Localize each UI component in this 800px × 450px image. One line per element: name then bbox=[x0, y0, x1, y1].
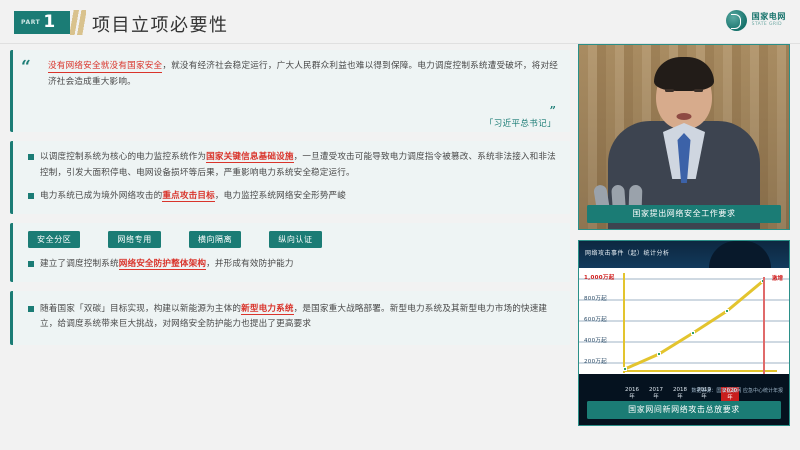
quote-attribution: 「习近平总书记」 bbox=[485, 117, 556, 129]
slide-root: PART 1 项目立项必要性 国家电网 STATE GRID “ 没有网络安全就… bbox=[0, 0, 800, 450]
chart-point-2016 bbox=[623, 367, 627, 371]
tv-header-bar: 网络攻击事件（起）统计分析 bbox=[579, 241, 789, 268]
bullet-0-highlight: 国家关键信息基础设施 bbox=[206, 152, 293, 163]
media-bottom-caption: 国家网间新网络攻击总放要求 bbox=[587, 401, 781, 420]
chart-ytick-400: 400万起 bbox=[584, 336, 607, 344]
quote-open-icon: “ bbox=[21, 59, 31, 76]
page-title: 项目立项必要性 bbox=[92, 11, 229, 37]
final-pre: 随着国家 bbox=[40, 304, 75, 314]
tv-anchor-silhouette bbox=[709, 241, 771, 268]
bullet-0-pre: 以调度控制系统为核心的电力监控系统作为 bbox=[40, 152, 206, 162]
chart-point-2019 bbox=[725, 309, 729, 313]
state-grid-globe-icon bbox=[726, 10, 747, 31]
chart-ytick-1000: 1,000万起 bbox=[584, 273, 615, 281]
chart-point-2017 bbox=[657, 352, 661, 356]
chart-data-points bbox=[623, 275, 775, 371]
protection-tags-card: 安全分区 网络专用 横向隔离 纵向认证 建立了调度控制系统网络安全防护整体架构，… bbox=[10, 223, 570, 282]
list-item: 随着国家「双碳」目标实现，构建以新能源为主体的新型电力系统，是国家重大战略部署。… bbox=[28, 302, 556, 333]
quote-attribution-block: ” 「习近平总书记」 bbox=[485, 105, 556, 129]
bullet-text: 电力系统已成为境外网络攻击的重点攻击目标，电力监控系统网络安全形势严峻 bbox=[40, 189, 346, 205]
quote-close-icon: ” bbox=[485, 105, 556, 116]
tag-vertical-authentication: 纵向认证 bbox=[269, 231, 321, 249]
brand-name-cn: 国家电网 bbox=[752, 13, 786, 21]
bullet-1-highlight: 重点攻击目标 bbox=[162, 191, 214, 202]
list-item: 建立了调度控制系统网络安全防护整体架构，并形成有效防护能力 bbox=[28, 257, 562, 273]
chart-point-2018 bbox=[691, 331, 695, 335]
bullet-1-pre: 电力系统已成为境外网络攻击的 bbox=[40, 191, 162, 201]
tag-bullet-post: ，并形成有效防护能力 bbox=[206, 259, 293, 269]
tv-chart-plot: 1,000万起 800万起 600万起 400万起 200万起 bbox=[579, 268, 789, 376]
bullet-1-post: ，电力监控系统网络安全形势严峻 bbox=[215, 191, 346, 201]
media-tv-chart: 网络攻击事件（起）统计分析 1,000万起 800万起 600万起 400万起 … bbox=[578, 240, 790, 426]
bullet-text: 以调度控制系统为核心的电力监控系统作为国家关键信息基础设施，一旦遭受攻击可能导致… bbox=[40, 150, 562, 181]
badge-slash-decoration bbox=[70, 10, 86, 35]
final-mid: 目标实现，构建以新能源为主体的 bbox=[110, 304, 241, 314]
chart-source-note: 数据来源：国家互联网 应急中心统计年报 bbox=[691, 388, 783, 395]
speech-photo-illustration bbox=[579, 45, 789, 229]
photo-eye-left bbox=[665, 89, 674, 92]
brand-logo: 国家电网 STATE GRID bbox=[726, 10, 786, 31]
bullet-text: 随着国家「双碳」目标实现，构建以新能源为主体的新型电力系统，是国家重大战略部署。… bbox=[40, 302, 556, 333]
tag-dedicated-network: 网络专用 bbox=[108, 231, 160, 249]
quote-card: “ 没有网络安全就没有国家安全，就没有经济社会稳定运行，广大人民群众利益也难以得… bbox=[10, 50, 570, 132]
tag-bullet-pre: 建立了调度控制系统 bbox=[40, 259, 119, 269]
bullet-square-icon bbox=[28, 261, 34, 267]
final-highlight: 新型电力系统 bbox=[241, 304, 293, 315]
slide-header: PART 1 项目立项必要性 国家电网 STATE GRID bbox=[0, 0, 800, 44]
chart-ytick-200: 200万起 bbox=[584, 357, 607, 365]
tag-security-zoning: 安全分区 bbox=[28, 231, 80, 249]
chart-ytick-800: 800万起 bbox=[584, 294, 607, 302]
list-item: 电力系统已成为境外网络攻击的重点攻击目标，电力监控系统网络安全形势严峻 bbox=[28, 189, 562, 205]
final-statement-card: 随着国家「双碳」目标实现，构建以新能源为主体的新型电力系统，是国家重大战略部署。… bbox=[10, 291, 570, 345]
chart-marker-line bbox=[763, 277, 765, 381]
right-media-column: 国家提出网络安全工作要求 网络攻击事件（起）统计分析 1,000万起 800万起… bbox=[578, 44, 790, 442]
tv-news-illustration: 网络攻击事件（起）统计分析 1,000万起 800万起 600万起 400万起 … bbox=[579, 241, 789, 425]
tag-row: 安全分区 网络专用 横向隔离 纵向认证 bbox=[28, 231, 562, 249]
part-badge-word: PART bbox=[21, 20, 40, 26]
main-bullets-card: 以调度控制系统为核心的电力监控系统作为国家关键信息基础设施，一旦遭受攻击可能导致… bbox=[10, 141, 570, 214]
quote-body: 没有网络安全就没有国家安全，就没有经济社会稳定运行，广大人民群众利益也难以得到保… bbox=[32, 58, 560, 90]
part-badge-number: 1 bbox=[43, 14, 55, 31]
photo-mouth bbox=[677, 113, 692, 120]
media-photo-speech: 国家提出网络安全工作要求 bbox=[578, 44, 790, 230]
bullet-square-icon bbox=[28, 193, 34, 199]
brand-text-block: 国家电网 STATE GRID bbox=[752, 13, 786, 28]
brand-name-en: STATE GRID bbox=[752, 23, 786, 28]
part-badge: PART 1 bbox=[14, 11, 70, 34]
bullet-square-icon bbox=[28, 306, 34, 312]
tv-header-text: 网络攻击事件（起）统计分析 bbox=[585, 248, 670, 257]
list-item: 以调度控制系统为核心的电力监控系统作为国家关键信息基础设施，一旦遭受攻击可能导致… bbox=[28, 150, 562, 181]
tag-horizontal-isolation: 横向隔离 bbox=[189, 231, 241, 249]
quote-highlight: 没有网络安全就没有国家安全 bbox=[48, 61, 162, 73]
final-quoted: 「双碳」 bbox=[75, 304, 110, 314]
chart-ytick-600: 600万起 bbox=[584, 315, 607, 323]
left-content-column: “ 没有网络安全就没有国家安全，就没有经济社会稳定运行，广大人民群众利益也难以得… bbox=[10, 50, 570, 442]
bullet-text: 建立了调度控制系统网络安全防护整体架构，并形成有效防护能力 bbox=[40, 257, 294, 273]
tag-bullet-highlight: 网络安全防护整体架构 bbox=[119, 259, 206, 270]
quote-rest-line1: ，就没有经济社会稳定运行，广大人民群众利益也难以得到保障。 bbox=[162, 61, 417, 71]
chart-annotation-surge: 激增 bbox=[772, 274, 783, 282]
bullet-square-icon bbox=[28, 154, 34, 160]
photo-eye-right bbox=[694, 89, 703, 92]
media-top-caption: 国家提出网络安全工作要求 bbox=[587, 205, 781, 224]
